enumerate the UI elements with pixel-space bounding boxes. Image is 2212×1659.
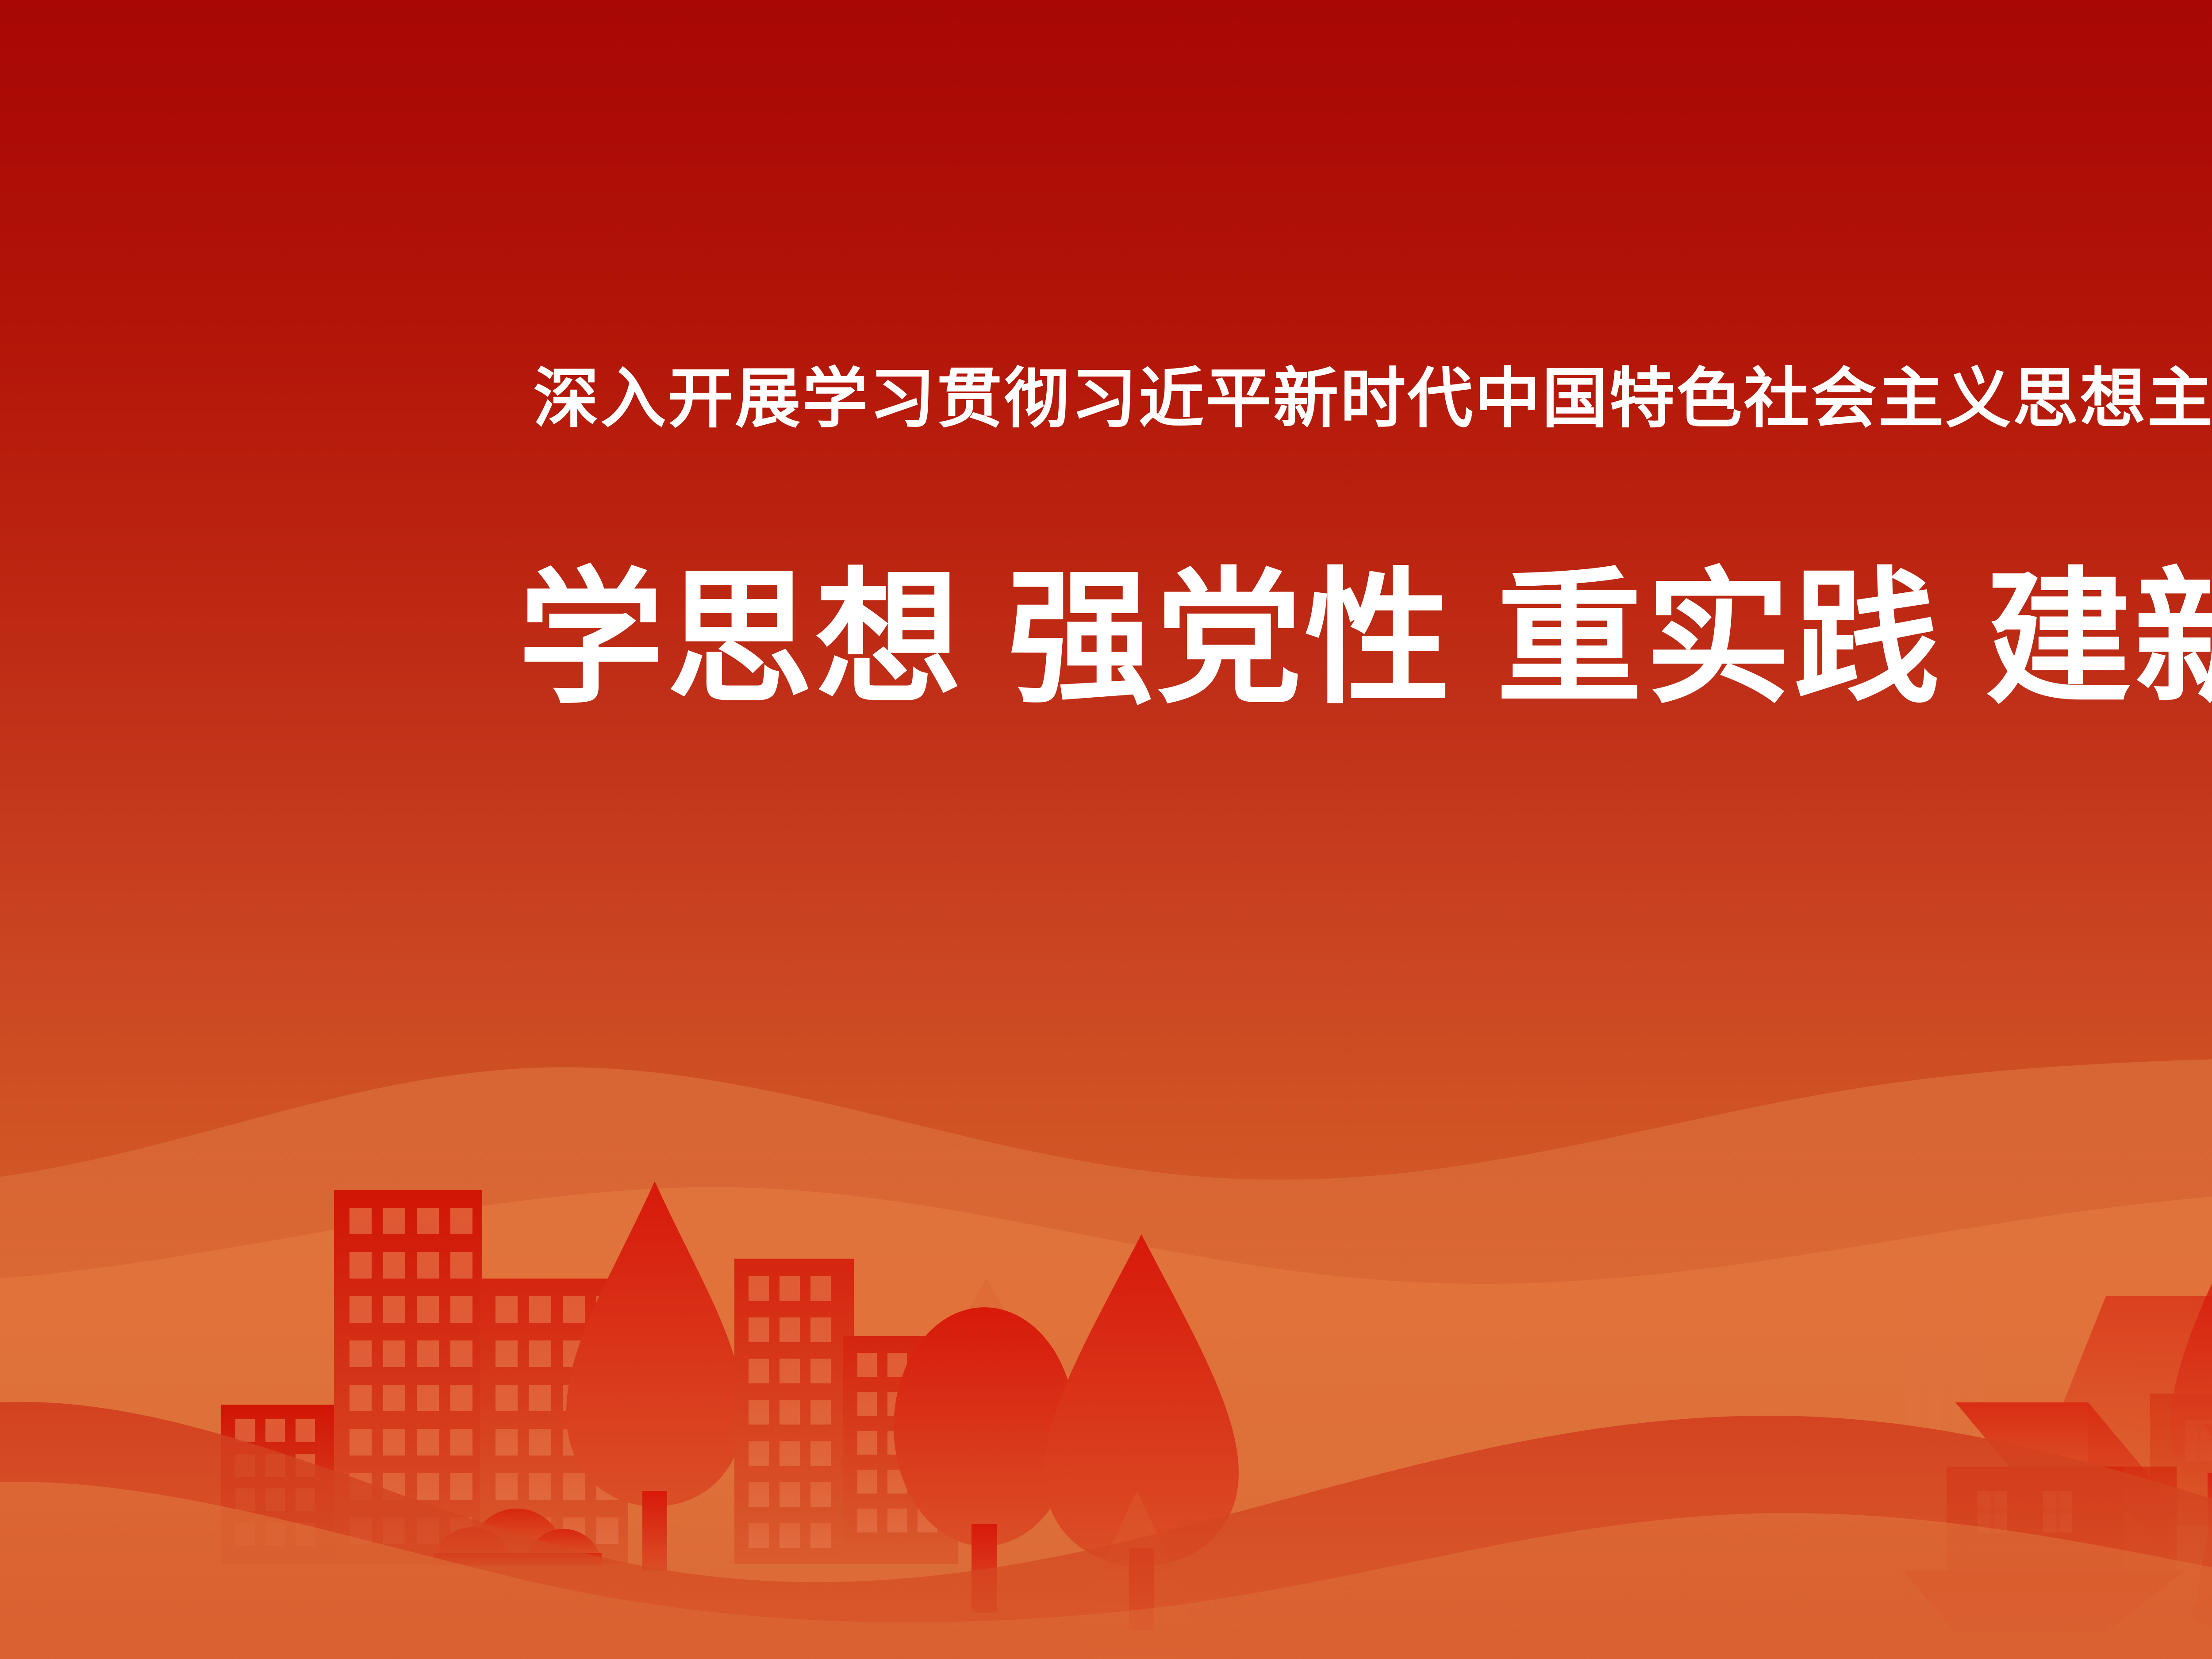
propaganda-banner: 深入开展学习贯彻习近平新时代中国特色社会主义思想主题教育 学思想 强党性 重实践… — [0, 0, 2212, 1659]
banner-main-title: 学思想 强党性 重实践 建新功 — [518, 560, 2212, 718]
banner-text-layer: 深入开展学习贯彻习近平新时代中国特色社会主义思想主题教育 学思想 强党性 重实践… — [0, 0, 2212, 1659]
banner-subtitle: 深入开展学习贯彻习近平新时代中国特色社会主义思想主题教育 — [534, 366, 2212, 432]
